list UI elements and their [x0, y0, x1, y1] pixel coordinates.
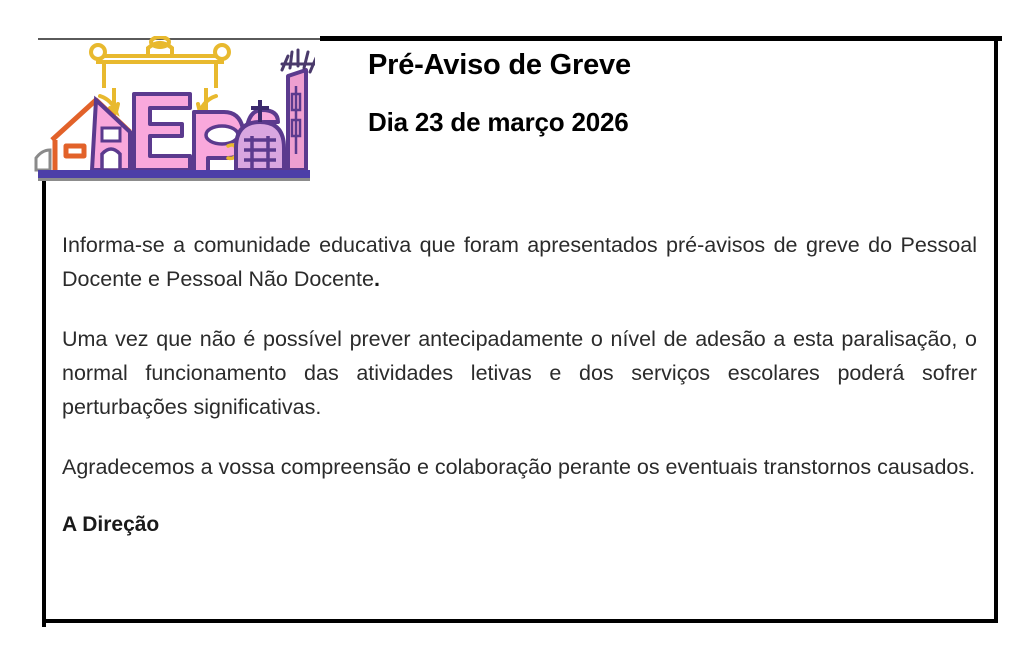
page-subtitle: Dia 23 de março 2026	[368, 108, 968, 137]
paragraph-2-text: Uma vez que não é possível prever anteci…	[62, 327, 977, 419]
paragraph-3-text: Agradecemos a vossa compreensão e colabo…	[62, 455, 975, 479]
frame-top-thick-rule	[320, 36, 1002, 41]
paragraph-3: Agradecemos a vossa compreensão e colabo…	[62, 450, 977, 484]
page-title: Pré-Aviso de Greve	[368, 50, 968, 82]
paragraph-1: Informa-se a comunidade educativa que fo…	[62, 228, 977, 296]
header-block: Pré-Aviso de Greve Dia 23 de março 2026	[368, 50, 968, 136]
signature-line: A Direção	[62, 510, 977, 540]
paragraph-1-text: Informa-se a comunidade educativa que fo…	[62, 233, 977, 291]
aepcsi-school-logo	[30, 36, 315, 181]
paragraph-2: Uma vez que não é possível prever anteci…	[62, 322, 977, 424]
notice-body: Informa-se a comunidade educativa que fo…	[62, 228, 977, 540]
frame-left-rule	[42, 178, 46, 627]
paragraph-1-bold-tail: .	[374, 267, 380, 291]
notice-page: Pré-Aviso de Greve Dia 23 de março 2026 …	[0, 0, 1024, 655]
